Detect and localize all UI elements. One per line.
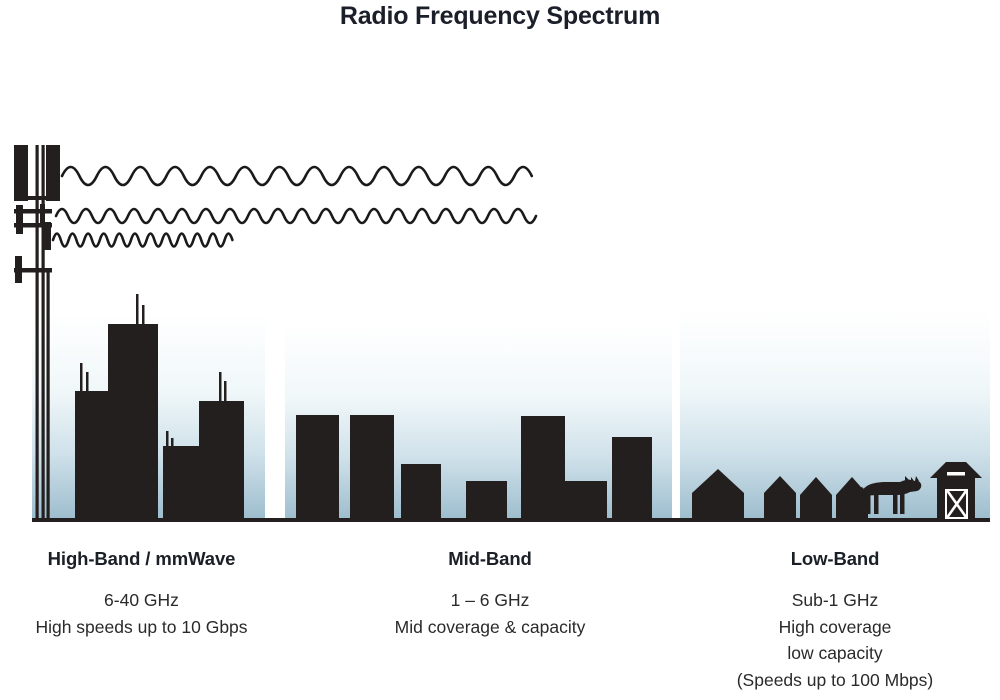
band-description-high: 6-40 GHz High speeds up to 10 Gbps (0, 587, 283, 640)
band-title-low: Low-Band (680, 548, 990, 570)
band-description-mid: 1 – 6 GHz Mid coverage & capacity (330, 587, 650, 640)
band-capacity-low: low capacity (680, 640, 990, 667)
band-title-high: High-Band / mmWave (0, 548, 283, 570)
building (565, 481, 607, 519)
skyscraper (199, 401, 244, 519)
antenna-spire (219, 372, 222, 403)
antenna-panel (44, 222, 51, 250)
antenna-spire (142, 305, 145, 327)
building (350, 415, 394, 519)
building (612, 437, 652, 519)
tower-crossbar (14, 268, 52, 273)
caption-high-band: High-Band / mmWave 6-40 GHz High speeds … (0, 548, 283, 640)
tower-mast (42, 145, 45, 520)
band-frequency-high: 6-40 GHz (0, 587, 283, 614)
antenna-panel (46, 145, 60, 201)
antenna-spire (224, 381, 227, 403)
band-speed-high: High speeds up to 10 Gbps (0, 614, 283, 641)
radio-waves (53, 167, 536, 247)
building (466, 481, 507, 519)
antenna-spire (166, 431, 169, 448)
band-speed-mid: Mid coverage & capacity (330, 614, 650, 641)
band-frequency-mid: 1 – 6 GHz (330, 587, 650, 614)
band-title-mid: Mid-Band (330, 548, 650, 570)
antenna-panel (14, 145, 28, 201)
skyscraper (108, 324, 158, 519)
low-band-wave (62, 167, 532, 185)
tower-crossbar (14, 209, 52, 214)
caption-mid-band: Mid-Band 1 – 6 GHz Mid coverage & capaci… (330, 548, 650, 640)
tower-mast (36, 145, 39, 520)
antenna-spire (80, 363, 83, 393)
tower-crossbar (28, 196, 48, 200)
band-speed-low: (Speeds up to 100 Mbps) (680, 667, 990, 694)
mid-band-wave (56, 209, 536, 223)
building (296, 415, 339, 519)
antenna-spire (86, 372, 89, 394)
barn (930, 462, 982, 519)
building (401, 464, 441, 519)
band-coverage-low: High coverage (680, 614, 990, 641)
barn-hayloft-slot (947, 472, 965, 476)
skyscraper (163, 446, 203, 519)
antenna-spire (171, 438, 174, 448)
tower-mast-stub (47, 272, 50, 520)
building (521, 416, 565, 519)
caption-low-band: Low-Band Sub-1 GHz High coverage low cap… (680, 548, 990, 693)
antenna-spire (136, 294, 139, 326)
band-description-low: Sub-1 GHz High coverage low capacity (Sp… (680, 587, 990, 693)
infographic-canvas: Radio Frequency Spectrum (0, 0, 1000, 700)
high-band-wave (53, 234, 232, 247)
band-frequency-low: Sub-1 GHz (680, 587, 990, 614)
